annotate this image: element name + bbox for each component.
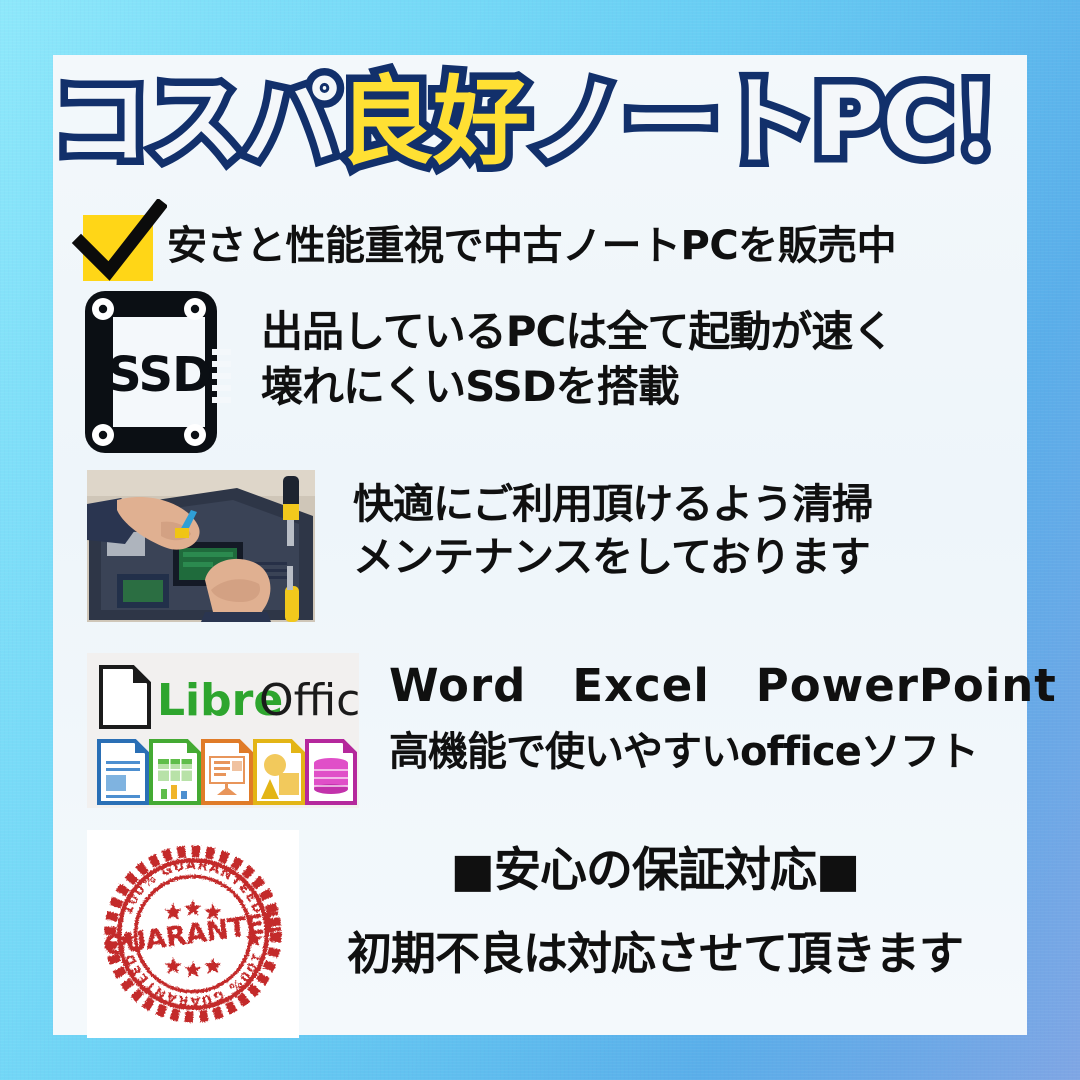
feature-row-ssd: SSD 出品しているPCは全て起動が速く 壊れにくいSSDを搭載 [81,287,893,457]
content-card: コスパ良好ノートPC！ 安さと性能重視で中古ノートPCを販売中 [53,55,1027,1035]
laptop-repair-photo [87,470,315,622]
checkmark-icon [77,207,159,285]
guarantee-detail: 初期不良は対応させて頂きます [347,925,963,984]
repair-photo-illustration [87,470,315,622]
libreoffice-logo-graphic: Libre Office [87,653,359,808]
guarantee-stamp-icon: 100% GUARANTEED 100% GUARANTEED [103,844,283,1024]
guarantee-heading: ■安心の保証対応■ [347,840,963,901]
app-icon-draw [255,741,303,803]
office-description: 高機能で使いやすいofficeソフト [389,726,1057,778]
app-icon-base [307,741,355,803]
office-text: Word Excel PowerPoint 高機能で使いやすいofficeソフト [389,657,1057,778]
feature-row-maintenance: 快適にご利用頂けるよう清掃 メンテナンスをしております [87,470,872,622]
maintenance-text-line1: 快適にご利用頂けるよう清掃 [353,478,872,531]
maintenance-text-line2: メンテナンスをしております [353,531,872,584]
guarantee-text: ■安心の保証対応■ 初期不良は対応させて頂きます [347,840,963,984]
title-part-notepc: ノートPC！ [528,66,1047,178]
title-part-kosupa: コスパ [53,66,338,178]
ssd-text-line1: 出品しているPCは全て起動が速く [261,305,893,360]
title-part-ryoukou: 良好 [338,66,528,178]
app-icon-writer [99,741,147,803]
office-apps-line: Word Excel PowerPoint [389,657,1057,716]
poster-canvas: コスパ良好ノートPC！ 安さと性能重視で中古ノートPCを販売中 [0,0,1080,1080]
guarantee-stamp-box: 100% GUARANTEED 100% GUARANTEED [87,830,299,1038]
logo-text-office: Office [259,675,359,726]
ssd-text-line2: 壊れにくいSSDを搭載 [261,360,893,415]
ssd-text: 出品しているPCは全て起動が速く 壊れにくいSSDを搭載 [261,305,893,414]
feature-row-pricing: 安さと性能重視で中古ノートPCを販売中 [77,207,896,285]
feature-row-guarantee: 100% GUARANTEED 100% GUARANTEED [87,830,963,1038]
libreoffice-logo: Libre Office [87,653,359,808]
maintenance-text: 快適にご利用頂けるよう清掃 メンテナンスをしております [353,478,872,585]
app-icon-impress [203,741,251,803]
page-title: コスパ良好ノートPC！ [53,71,1027,175]
pricing-text: 安さと性能重視で中古ノートPCを販売中 [167,220,896,272]
app-icon-calc [151,741,199,803]
feature-row-office: Libre Office [87,653,1057,808]
ssd-drive-icon: SSD [81,287,233,457]
checkmark-tick-icon [71,199,167,291]
svg-text:SSD: SSD [107,347,211,403]
